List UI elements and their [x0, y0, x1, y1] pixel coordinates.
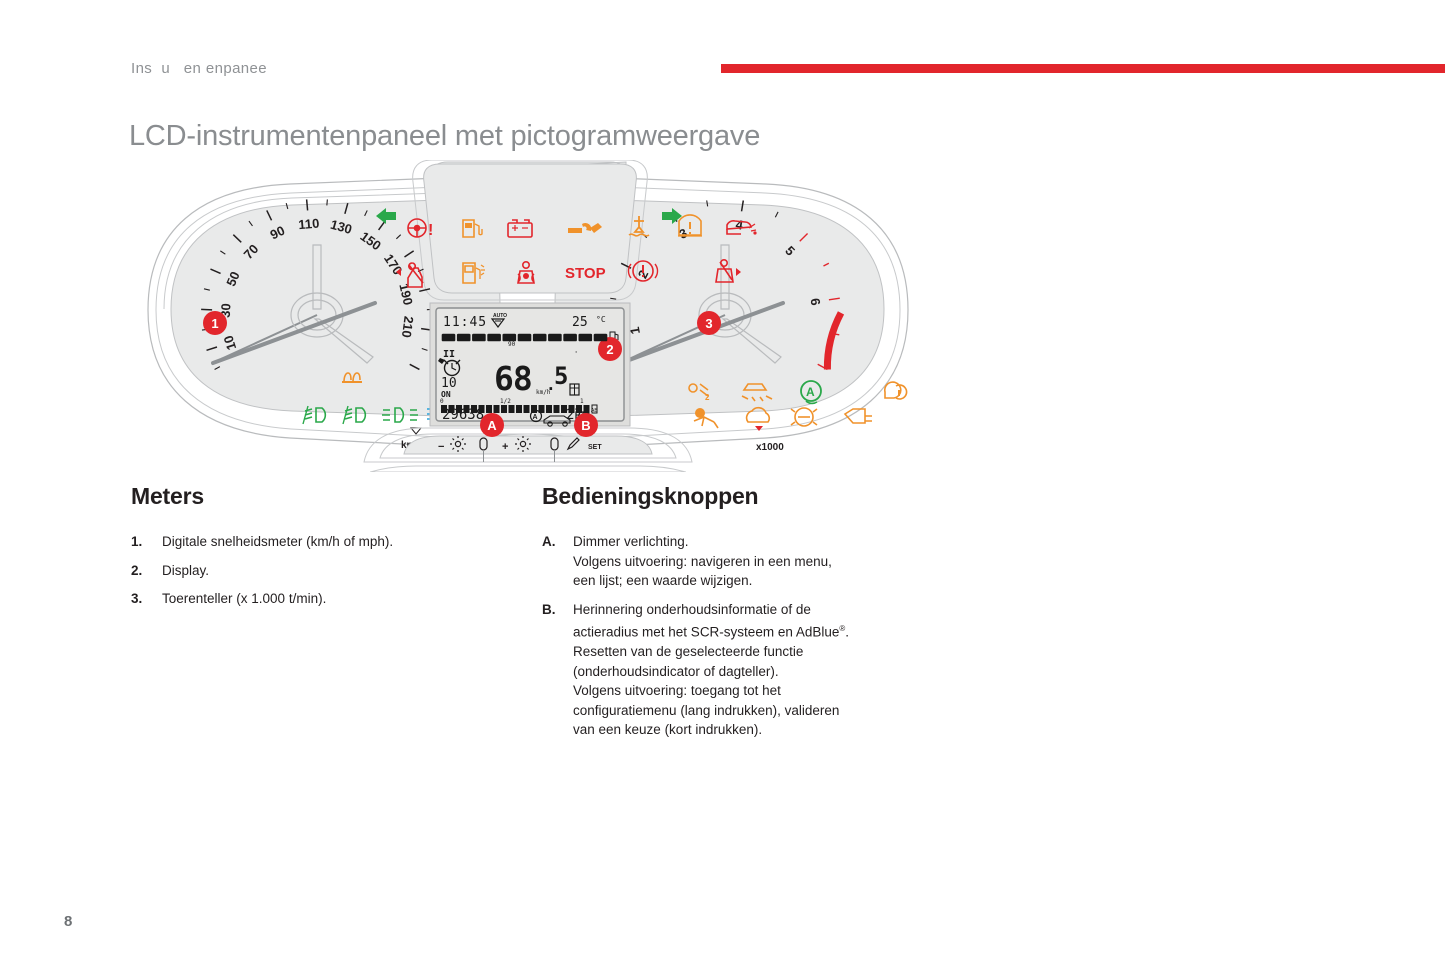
list-item-line: actieradius met het SCR-systeem en AdBlu… — [573, 619, 942, 642]
svg-text:STOP: STOP — [565, 265, 606, 282]
svg-text:B: B — [581, 418, 590, 433]
buttons-list: A.Dimmer verlichting.Volgens uitvoering:… — [542, 532, 942, 740]
page-title: LCD-instrumentenpaneel met pictogramweer… — [129, 120, 760, 153]
list-item-text: Digitale snelheidsmeter (km/h of mph). — [162, 532, 521, 552]
list-item-text: Dimmer verlichting.Volgens uitvoering: n… — [573, 532, 942, 591]
svg-text:11:45: 11:45 — [443, 315, 487, 330]
svg-text:+: + — [502, 441, 508, 453]
svg-text:A: A — [533, 414, 538, 421]
svg-text:II: II — [443, 349, 455, 360]
svg-text:3: 3 — [705, 316, 712, 331]
list-item-marker: 2. — [131, 561, 162, 581]
page-number: 8 — [64, 913, 72, 930]
svg-text:': ' — [574, 350, 578, 358]
list-item-marker: 3. — [131, 589, 162, 609]
section-title-bedieningsknoppen: Bedieningsknoppen — [542, 483, 942, 510]
svg-text:km/h: km/h — [536, 389, 551, 396]
svg-text:5: 5 — [554, 362, 568, 390]
svg-text:210: 210 — [399, 315, 417, 338]
list-item-line: Dimmer verlichting. — [573, 532, 942, 552]
list-item-line: configuratiemenu (lang indrukken), valid… — [573, 701, 942, 721]
svg-text:SET: SET — [588, 444, 602, 451]
meters-list: 1.Digitale snelheidsmeter (km/h of mph).… — [131, 532, 521, 609]
section-title-meters: Meters — [131, 483, 521, 510]
callout-b: B — [574, 413, 598, 437]
callout-1: 1 — [203, 311, 227, 335]
list-item-line: Digitale snelheidsmeter (km/h of mph). — [162, 532, 521, 552]
running-head: Ins u en enpanee — [131, 60, 267, 77]
svg-text:110: 110 — [298, 215, 320, 232]
list-item: A.Dimmer verlichting.Volgens uitvoering:… — [542, 532, 942, 591]
list-item-text: Display. — [162, 561, 521, 581]
registered-mark: ® — [839, 624, 845, 633]
svg-text:10: 10 — [441, 376, 457, 391]
list-item-line: Volgens uitvoering: toegang tot het — [573, 681, 942, 701]
svg-text:A: A — [487, 418, 497, 433]
list-item-marker: B. — [542, 600, 573, 740]
manual-page: Ins u en enpanee LCD-instrumentenpaneel … — [0, 0, 1445, 977]
list-item-line: Volgens uitvoering: navigeren in een men… — [573, 552, 942, 572]
svg-text:AB: AB — [591, 408, 598, 414]
header-rule — [721, 64, 1445, 73]
svg-text:29638: 29638 — [442, 407, 484, 423]
callout-a: A — [480, 413, 504, 437]
list-item: 3.Toerenteller (x 1.000 t/min). — [131, 589, 521, 609]
list-item-marker: A. — [542, 532, 573, 591]
list-item-line: Display. — [162, 561, 521, 581]
list-item: B.Herinnering onderhoudsinformatie of de… — [542, 600, 942, 740]
svg-text:2: 2 — [606, 342, 613, 357]
svg-text:2: 2 — [705, 393, 710, 402]
svg-text:68: 68 — [494, 359, 532, 398]
section-meters: Meters 1.Digitale snelheidsmeter (km/h o… — [131, 483, 521, 618]
list-item-line: een lijst; een waarde wijzigen. — [573, 571, 942, 591]
callout-3: 3 — [697, 311, 721, 335]
list-item-text: Toerenteller (x 1.000 t/min). — [162, 589, 521, 609]
svg-text:90: 90 — [508, 341, 516, 348]
list-item-line: (onderhoudsindicator of dagteller). — [573, 662, 942, 682]
list-item-line: Toerenteller (x 1.000 t/min). — [162, 589, 521, 609]
svg-text:1: 1 — [211, 316, 218, 331]
svg-text:°C: °C — [596, 315, 606, 324]
list-item: 2.Display. — [131, 561, 521, 581]
list-item: 1.Digitale snelheidsmeter (km/h of mph). — [131, 532, 521, 552]
svg-text:!: ! — [428, 222, 433, 239]
section-bedieningsknoppen: Bedieningsknoppen A.Dimmer verlichting.V… — [542, 483, 942, 749]
svg-text:AUTO: AUTO — [493, 313, 507, 319]
svg-text:25: 25 — [572, 315, 588, 330]
svg-text:A: A — [806, 385, 815, 399]
svg-text:x1000: x1000 — [756, 442, 784, 453]
instrument-cluster-figure: .ln{fill:none;stroke:#b9bbbd;stroke-widt… — [140, 160, 915, 472]
list-item-text: Herinnering onderhoudsinformatie of deac… — [573, 600, 942, 740]
svg-text:0: 0 — [440, 398, 444, 405]
list-item-line: Resetten van de geselecteerde functie — [573, 642, 942, 662]
svg-text:−: − — [438, 441, 444, 453]
list-item-marker: 1. — [131, 532, 162, 552]
svg-text:1/2: 1/2 — [500, 398, 511, 405]
svg-text:1: 1 — [580, 398, 584, 405]
list-item-line: van een keuze (kort indrukken). — [573, 720, 942, 740]
list-item-line: Herinnering onderhoudsinformatie of de — [573, 600, 942, 620]
